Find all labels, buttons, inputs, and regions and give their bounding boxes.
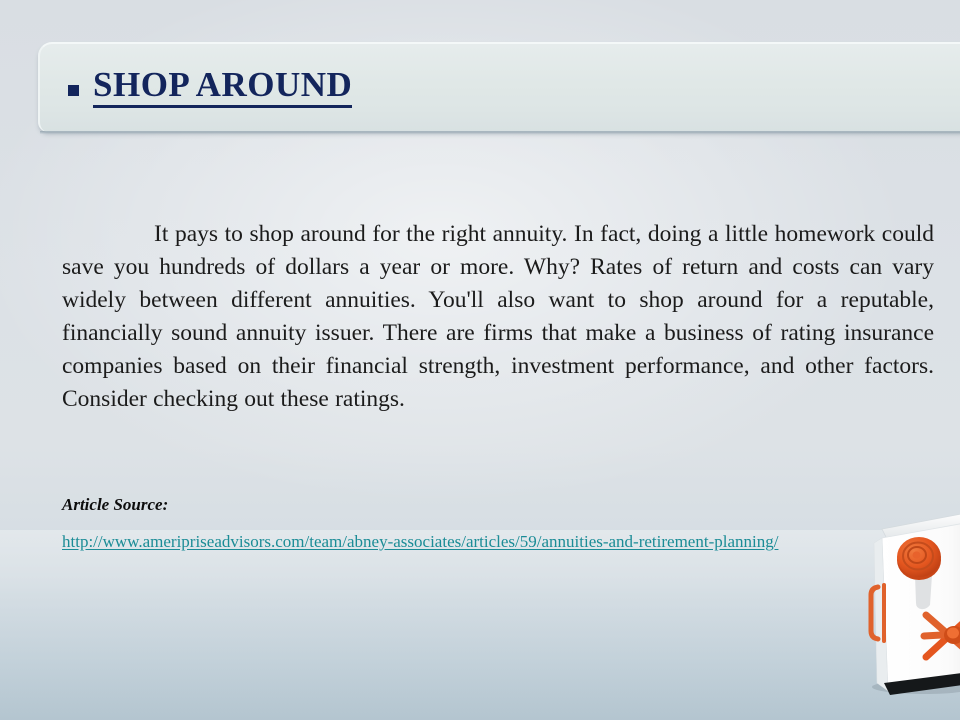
safe-top-face bbox=[882, 511, 960, 541]
safe-shadow bbox=[872, 680, 960, 694]
safe-door-face bbox=[882, 521, 960, 691]
article-source-label: Article Source: bbox=[62, 495, 168, 515]
safe-top-seam bbox=[884, 520, 960, 543]
safe-door-handle bbox=[871, 587, 878, 639]
safe-dial bbox=[897, 537, 941, 577]
safe-dial-ring-outer bbox=[903, 543, 933, 570]
slide-canvas: SHOP AROUND It pays to shop around for t… bbox=[0, 0, 960, 720]
safe-dial-ring-inner bbox=[908, 547, 926, 563]
safe-dial-hub bbox=[913, 551, 921, 558]
background-bottom-haze bbox=[0, 530, 960, 720]
safe-spoke-wheel bbox=[924, 613, 960, 657]
slide-title-row: SHOP AROUND bbox=[68, 66, 352, 108]
body-paragraph: It pays to shop around for the right ann… bbox=[62, 218, 934, 416]
safe-dial-base bbox=[897, 540, 941, 580]
title-banner-shadow-line bbox=[40, 131, 960, 134]
page-title: SHOP AROUND bbox=[93, 66, 352, 108]
square-bullet-icon bbox=[68, 85, 79, 96]
article-source-link[interactable]: http://www.ameripriseadvisors.com/team/a… bbox=[62, 529, 892, 554]
safe-side-panel bbox=[874, 538, 888, 691]
safe-base-bar bbox=[884, 671, 960, 695]
safe-dial-shaft bbox=[910, 556, 934, 610]
